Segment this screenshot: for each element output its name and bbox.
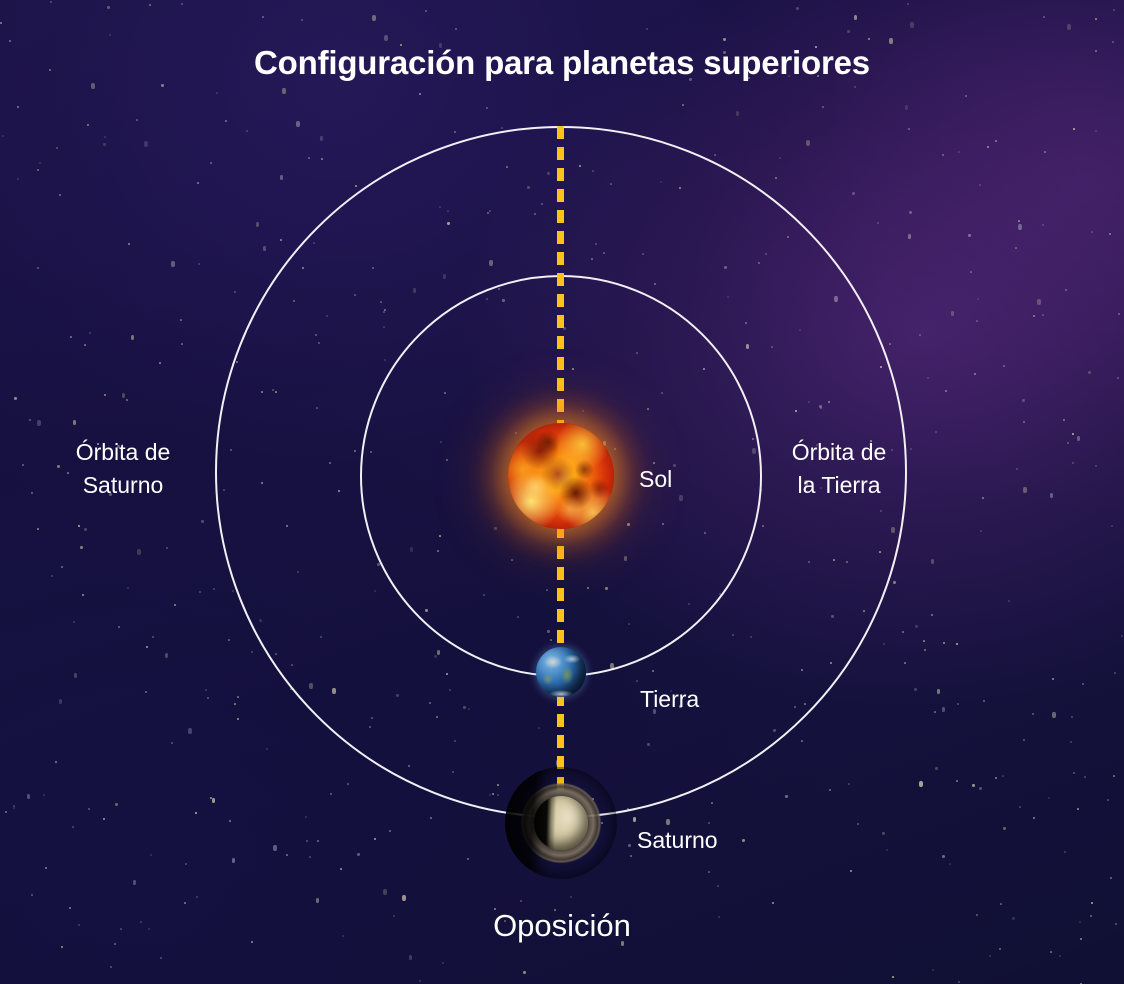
earth-icon <box>536 647 586 697</box>
body-label-saturn: Saturno <box>637 827 718 854</box>
earth-landmass-texture <box>536 647 586 697</box>
diagram-canvas: Configuración para planetas superiores Ó… <box>0 0 1124 984</box>
saturn-icon <box>505 767 617 879</box>
body-label-sun: Sol <box>639 466 672 493</box>
diagram-title: Configuración para planetas superiores <box>0 44 1124 82</box>
sun-icon <box>508 423 614 529</box>
sun-surface-texture <box>508 423 614 529</box>
orbit-label-saturn: Órbita de Saturno <box>30 436 216 502</box>
diagram-caption: Oposición <box>0 908 1124 944</box>
body-label-earth: Tierra <box>640 686 699 713</box>
orbit-label-earth: Órbita de la Tierra <box>748 436 930 502</box>
saturn-body <box>534 796 588 850</box>
